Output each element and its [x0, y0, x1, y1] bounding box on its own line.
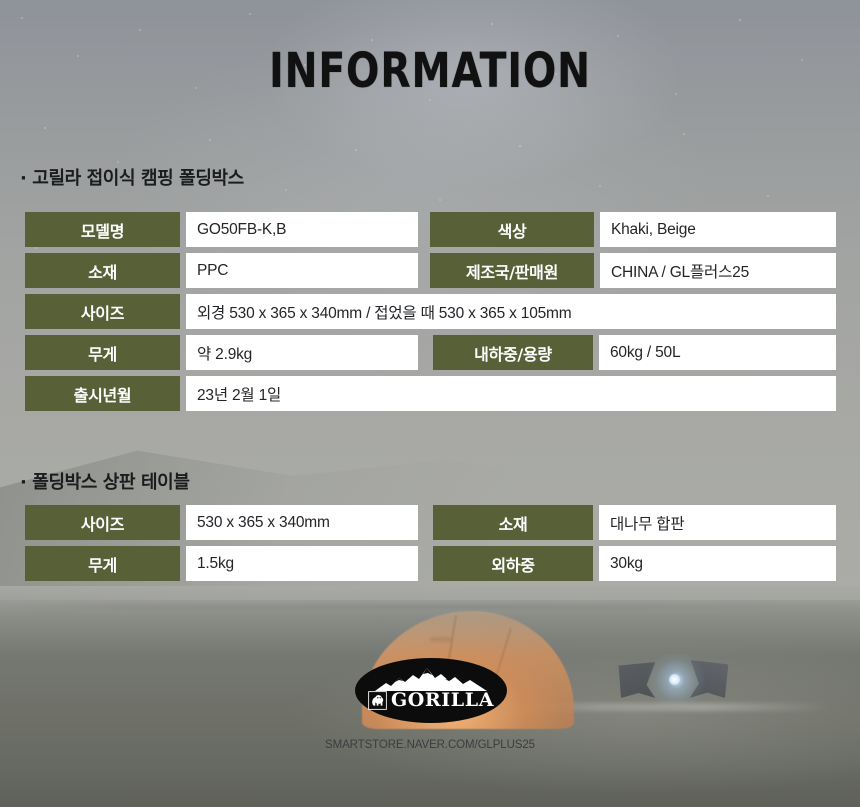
- spec-value-cell: Khaki, Beige: [600, 212, 836, 247]
- spec-value-cell: 60kg / 50L: [599, 335, 836, 370]
- spec-value-cell: 30kg: [599, 546, 836, 581]
- spec-value-cell: GO50FB-K,B: [186, 212, 418, 247]
- lantern-icon: [669, 674, 680, 685]
- spec-value-cell: 1.5kg: [186, 546, 418, 581]
- store-url-text: SMARTSTORE.NAVER.COM/GLPLUS25: [0, 739, 860, 751]
- ground-haze-overlay: [0, 586, 860, 656]
- spec-value-cell: 23년 2월 1일: [186, 376, 836, 411]
- spec-label-cell: 출시년월: [25, 376, 180, 411]
- spec-label-cell: 색상: [430, 212, 594, 247]
- spec-value-cell: CHINA / GL플러스25: [600, 253, 836, 288]
- spec-label-cell: 사이즈: [25, 505, 180, 540]
- spec-label-cell: 무게: [25, 335, 180, 370]
- spec-label-cell: 제조국/판매원: [430, 253, 594, 288]
- spec-label-cell: 내하중/용량: [433, 335, 593, 370]
- spec-label-cell: 무게: [25, 546, 180, 581]
- logo-wordmark-row: GORILLA: [355, 691, 507, 710]
- information-page: INFORMATION · 고릴라 접이식 캠핑 폴딩박스모델명GO50FB-K…: [0, 0, 860, 807]
- section-heading: · 고릴라 접이식 캠핑 폴딩박스: [20, 164, 244, 190]
- page-title: INFORMATION: [77, 47, 782, 95]
- mountain-icon: [375, 667, 487, 691]
- spec-label-cell: 소재: [433, 505, 593, 540]
- gorilla-icon: [368, 691, 387, 710]
- logo-text: GORILLA: [391, 691, 494, 710]
- section-heading: · 폴딩박스 상판 테이블: [20, 468, 189, 494]
- spec-value-cell: 약 2.9kg: [186, 335, 418, 370]
- spec-label-cell: 모델명: [25, 212, 180, 247]
- spec-value-cell: 대나무 합판: [599, 505, 836, 540]
- spec-value-cell: 530 x 365 x 340mm: [186, 505, 418, 540]
- spec-label-cell: 소재: [25, 253, 180, 288]
- spec-label-cell: 사이즈: [25, 294, 180, 329]
- spec-value-cell: PPC: [186, 253, 418, 288]
- gorilla-logo: GORILLA: [355, 658, 507, 723]
- spec-label-cell: 외하중: [433, 546, 593, 581]
- spec-value-cell: 외경 530 x 365 x 340mm / 접었을 때 530 x 365 x…: [186, 294, 836, 329]
